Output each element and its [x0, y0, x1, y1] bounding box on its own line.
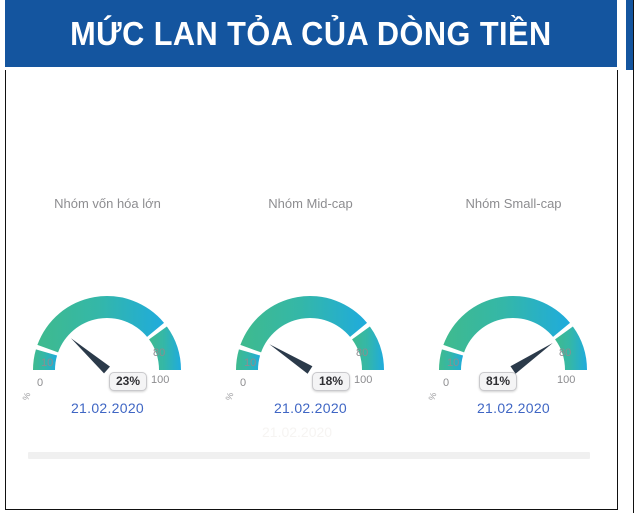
gauge-axis-tick-10: 10	[41, 358, 53, 369]
gauge-3: Nhóm Small-cap01080100%81%21.02.2020	[412, 196, 615, 426]
ghost-text-artifact: 21.02.2020	[262, 424, 332, 440]
frame-border-bottom	[5, 509, 618, 510]
gauge-axis-tick-0: 0	[240, 378, 246, 389]
gauge-date-label: 21.02.2020	[412, 400, 615, 416]
header-accent-sliver	[626, 0, 633, 70]
gauge-axis-tick-80: 80	[153, 348, 165, 359]
gauge-arc-graphic	[209, 218, 412, 398]
gauge-axis-tick-100: 100	[557, 375, 575, 386]
gauge-arc-graphic	[412, 218, 615, 398]
gauge-arc-segment-2	[37, 296, 164, 352]
gauge-axis-tick-100: 100	[151, 375, 169, 386]
gauge-title: Nhóm Mid-cap	[209, 196, 412, 211]
page-root: MỨC LAN TỎA CỦA DÒNG TIỀN Nhóm vốn hóa l…	[0, 0, 640, 513]
gauge-arc-segment-2	[443, 296, 570, 352]
gauge-axis-tick-0: 0	[443, 378, 449, 389]
gauge-needle	[510, 343, 552, 374]
gauge-1: Nhóm vốn hóa lớn01080100%23%21.02.2020	[6, 196, 209, 426]
gauge-title: Nhóm Small-cap	[412, 196, 615, 211]
gauge-chart-group: Nhóm vốn hóa lớn01080100%23%21.02.2020Nh…	[6, 196, 617, 426]
gauge-axis-tick-100: 100	[354, 375, 372, 386]
gauge-needle	[71, 338, 110, 373]
frame-border-right	[617, 70, 618, 510]
gauge-arc-segment-2	[240, 296, 367, 352]
gauge-title: Nhóm vốn hóa lớn	[6, 196, 209, 211]
frame-border-right-outer	[633, 0, 634, 513]
gauge-axis-tick-80: 80	[356, 348, 368, 359]
page-header: MỨC LAN TỎA CỦA DÒNG TIỀN	[5, 0, 617, 67]
gauge-date-label: 21.02.2020	[209, 400, 412, 416]
section-divider	[28, 452, 590, 459]
gauge-axis-tick-10: 10	[447, 358, 459, 369]
gauge-value-bubble: 23%	[109, 372, 147, 391]
gauge-axis-tick-80: 80	[559, 348, 571, 359]
gauge-axis-tick-10: 10	[244, 358, 256, 369]
gauge-needle	[269, 344, 312, 374]
gauge-arc-graphic	[6, 218, 209, 398]
gauge-axis-tick-0: 0	[37, 378, 43, 389]
gauge-value-bubble: 18%	[312, 372, 350, 391]
gauge-2: Nhóm Mid-cap01080100%18%21.02.2020	[209, 196, 412, 426]
gauge-date-label: 21.02.2020	[6, 400, 209, 416]
page-title: MỨC LAN TỎA CỦA DÒNG TIỀN	[70, 15, 551, 53]
gauge-value-bubble: 81%	[479, 372, 517, 391]
